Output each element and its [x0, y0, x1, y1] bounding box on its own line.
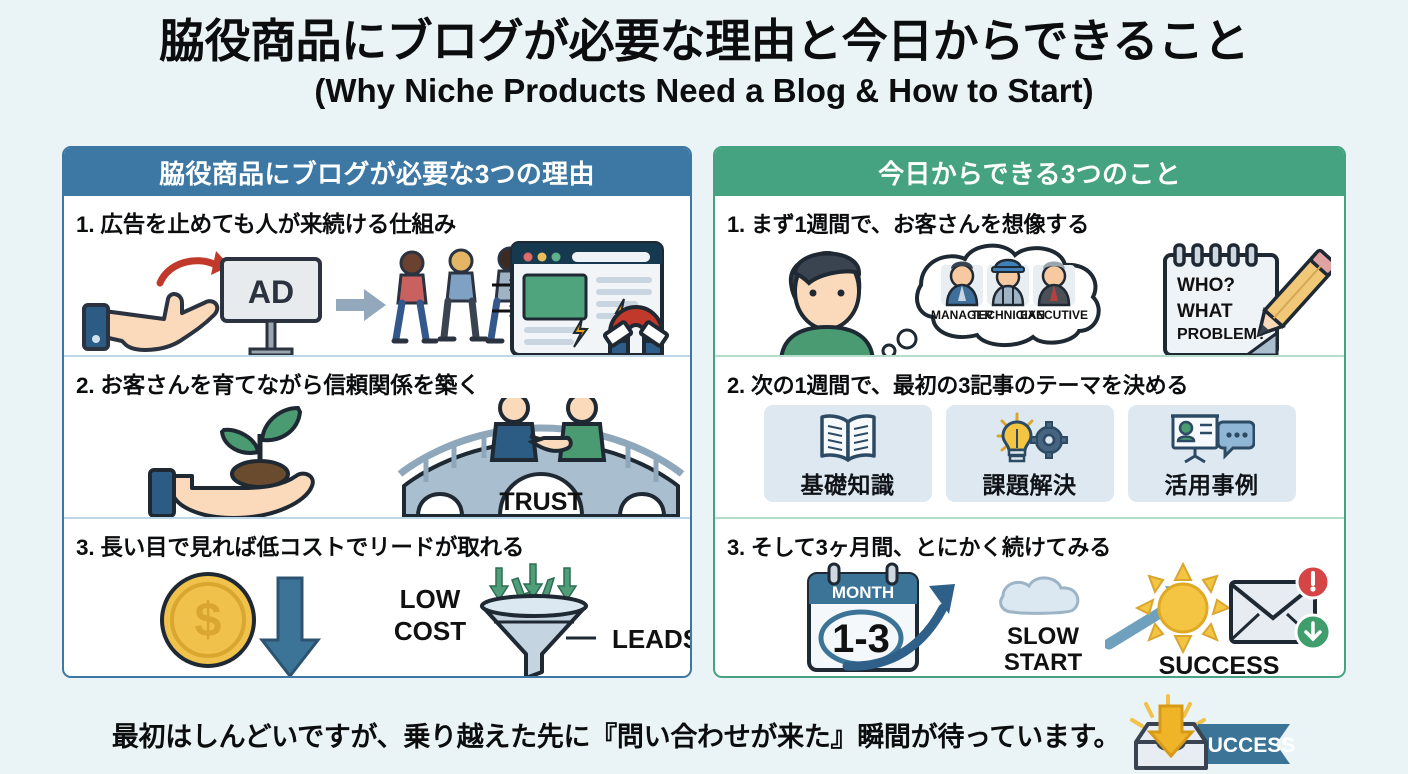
success-label: SUCCESS	[1159, 652, 1280, 678]
trust-label: TRUST	[499, 488, 582, 516]
who-label: WHO?	[1177, 275, 1235, 296]
theme-card-basics-label: 基礎知識	[801, 466, 895, 500]
lightbulb-gear-icon	[991, 412, 1069, 464]
theme-cards: 基礎知識	[715, 405, 1344, 502]
three-month-persistence-illustration: MONTH 1-3 SLOW START	[715, 564, 1344, 678]
persona-executive-label: EXECUTIVE	[1020, 308, 1088, 322]
calendar-range-label: 1-3	[832, 617, 890, 661]
theme-card-problem-solving-label: 課題解決	[983, 466, 1077, 500]
success-badge: SUCCESS!	[1124, 694, 1296, 774]
svg-text:$: $	[195, 594, 222, 647]
left-row-3: 3. 長い目で見れば低コストでリードが取れる $ LOW COST	[64, 517, 690, 678]
page-title-jp: 脇役商品にブログが必要な理由と今日からできること	[0, 16, 1408, 68]
start-label: START	[1004, 649, 1083, 676]
success-badge-label: SUCCESS!	[1194, 734, 1296, 757]
theme-card-use-cases-label: 活用事例	[1165, 466, 1259, 500]
title-block: 脇役商品にブログが必要な理由と今日からできること (Why Niche Prod…	[0, 16, 1408, 109]
low-cost-leads-funnel-illustration: $ LOW COST	[64, 564, 690, 678]
left-row-3-title: 3. 長い目で見れば低コストでリードが取れる	[76, 530, 690, 562]
open-book-icon	[817, 412, 879, 464]
left-row-1: 1. 広告を止めても人が来続ける仕組み AD	[64, 196, 690, 355]
imagine-customer-persona-illustration: MANAGER TECHNICIAN	[715, 241, 1344, 355]
left-panel-reasons: 脇役商品にブログが必要な3つの理由 1. 広告を止めても人が来続ける仕組み AD	[62, 146, 692, 678]
left-row-1-title: 1. 広告を止めても人が来続ける仕組み	[76, 207, 690, 239]
theme-card-basics[interactable]: 基礎知識	[764, 405, 932, 502]
nurture-and-trust-bridge-illustration: TRUST	[64, 402, 690, 516]
ad-sign-label: AD	[248, 274, 294, 310]
right-row-2: 2. 次の1週間で、最初の3記事のテーマを決める 基礎知識	[715, 355, 1344, 516]
theme-card-problem-solving[interactable]: 課題解決	[946, 405, 1114, 502]
right-panel-actions: 今日からできる3つのこと 1. まず1週間で、お客さんを想像する	[713, 146, 1346, 678]
slow-label: SLOW	[1007, 623, 1079, 650]
right-row-3-title: 3. そして3ヶ月間、とにかく続けてみる	[727, 530, 1344, 562]
presentation-chat-icon	[1169, 412, 1255, 464]
page-title-en: (Why Niche Products Need a Blog & How to…	[0, 72, 1408, 110]
left-panel-header: 脇役商品にブログが必要な3つの理由	[64, 148, 690, 196]
right-row-1: 1. まず1週間で、お客さんを想像する	[715, 196, 1344, 355]
footer: 最初はしんどいですが、乗り越えた先に『問い合わせが来た』瞬間が待っています。 S…	[0, 694, 1408, 774]
ad-stop-to-organic-traffic-illustration: AD	[64, 241, 690, 355]
cost-label: COST	[394, 616, 466, 646]
infographic-canvas: 脇役商品にブログが必要な理由と今日からできること (Why Niche Prod…	[0, 0, 1408, 768]
right-row-2-title: 2. 次の1週間で、最初の3記事のテーマを決める	[727, 368, 1344, 400]
leads-label: LEADS	[612, 624, 690, 654]
left-row-2: 2. お客さんを育てながら信頼関係を築く	[64, 355, 690, 516]
right-panel-rows: 1. まず1週間で、お客さんを想像する	[715, 196, 1344, 678]
right-row-3: 3. そして3ヶ月間、とにかく続けてみる MONTH 1-3	[715, 517, 1344, 678]
right-panel-header: 今日からできる3つのこと	[715, 148, 1344, 196]
theme-card-use-cases[interactable]: 活用事例	[1128, 405, 1296, 502]
footer-message: 最初はしんどいですが、乗り越えた先に『問い合わせが来た』瞬間が待っています。	[112, 715, 1120, 754]
right-row-1-title: 1. まず1週間で、お客さんを想像する	[727, 207, 1344, 239]
what-label: WHAT	[1177, 301, 1233, 322]
calendar-month-label: MONTH	[832, 583, 894, 602]
low-label: LOW	[400, 584, 461, 614]
left-row-2-title: 2. お客さんを育てながら信頼関係を築く	[76, 368, 690, 400]
problem-label: PROBLEM?	[1177, 326, 1267, 343]
left-panel-rows: 1. 広告を止めても人が来続ける仕組み AD	[64, 196, 690, 678]
